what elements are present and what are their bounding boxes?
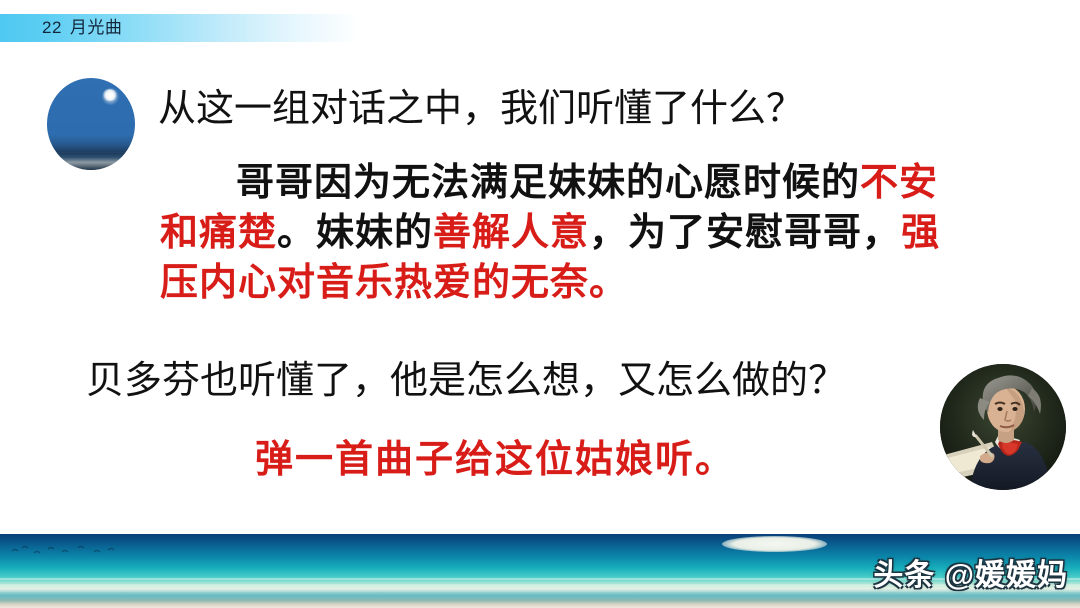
birds-icon xyxy=(8,544,128,558)
sphere-sea-band xyxy=(47,153,135,170)
portrait-artwork xyxy=(940,364,1066,490)
question-two-text: 贝多芬也听懂了，他是怎么想，又怎么做的？ xyxy=(86,357,846,405)
answer-segment-5: ，为了安慰哥哥， xyxy=(589,209,901,254)
answer-two-text: 弹一首曲子给这位姑娘听。 xyxy=(255,435,735,483)
answer-segment-4-red: 善解人意 xyxy=(433,209,589,254)
question-one-text: 从这一组对话之中，我们听懂了什么？ xyxy=(158,85,804,133)
blue-sphere-bullet-icon xyxy=(47,78,135,170)
sphere-highlight-icon xyxy=(102,89,118,101)
answer-segment-3: 。妹妹的 xyxy=(277,209,433,254)
beethoven-portrait-image xyxy=(940,364,1066,490)
answer-paragraph: 哥哥因为无法满足妹妹的心愿时候的不安和痛楚。妹妹的善解人意，为了安慰哥哥，强压内… xyxy=(160,157,960,307)
lesson-number: 22 xyxy=(42,18,62,37)
header-title: 22月光曲 xyxy=(42,15,122,41)
cloud-icon xyxy=(722,536,827,552)
slide-root: 22月光曲 从这一组对话之中，我们听懂了什么？ 哥哥因为无法满足妹妹的心愿时候的… xyxy=(0,0,1080,608)
watermark-text: 头条 @媛媛妈 xyxy=(873,558,1068,594)
answer-segment-1: 哥哥因为无法满足妹妹的心愿时候的 xyxy=(236,159,860,204)
footer-ocean-banner: 头条 @媛媛妈 xyxy=(0,534,1080,608)
lesson-title: 月光曲 xyxy=(70,18,123,37)
